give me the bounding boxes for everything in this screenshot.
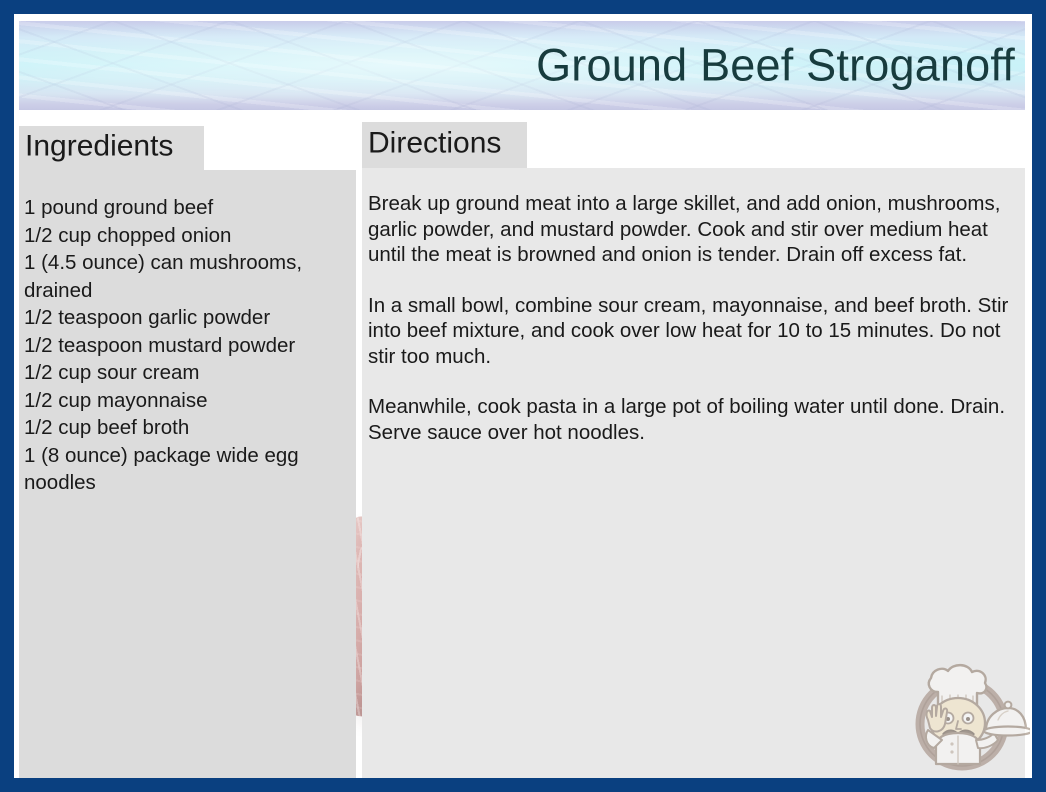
direction-paragraph: Meanwhile, cook pasta in a large pot of … xyxy=(368,394,1011,445)
header-banner: Ground Beef Stroganoff xyxy=(19,21,1025,110)
ingredient-item: 1/2 cup chopped onion xyxy=(24,222,348,250)
direction-paragraph: In a small bowl, combine sour cream, may… xyxy=(368,293,1011,370)
ingredient-item: 1 (4.5 ounce) can mushrooms, drained xyxy=(24,249,348,304)
slide-title: Ground Beef Stroganoff xyxy=(536,41,1015,88)
ingredient-item: 1/2 teaspoon mustard powder xyxy=(24,332,348,360)
ingredient-item: 1/2 cup mayonnaise xyxy=(24,387,348,415)
slide-border-left xyxy=(0,0,14,792)
recipe-slide: Ground Beef Stroganoff Ingredients 1 pou… xyxy=(0,0,1046,792)
directions-heading-label: Directions xyxy=(368,127,501,161)
ingredients-heading-label: Ingredients xyxy=(25,130,173,164)
ingredients-heading-box: Ingredients xyxy=(19,126,204,170)
ingredient-item: 1/2 cup sour cream xyxy=(24,359,348,387)
slide-border-right xyxy=(1032,0,1046,792)
ingredient-item: 1/2 cup beef broth xyxy=(24,414,348,442)
slide-border-bottom xyxy=(0,778,1046,792)
directions-text: Break up ground meat into a large skille… xyxy=(368,191,1011,445)
directions-panel: Break up ground meat into a large skille… xyxy=(362,168,1025,778)
directions-heading-box: Directions xyxy=(362,122,527,168)
direction-paragraph: Break up ground meat into a large skille… xyxy=(368,191,1011,268)
ingredient-item: 1/2 teaspoon garlic powder xyxy=(24,304,348,332)
ingredients-panel: 1 pound ground beef1/2 cup chopped onion… xyxy=(19,170,356,783)
ingredient-item: 1 (8 ounce) package wide egg noodles xyxy=(24,442,348,497)
ingredients-list: 1 pound ground beef1/2 cup chopped onion… xyxy=(24,194,348,497)
ingredient-item: 1 pound ground beef xyxy=(24,194,348,222)
slide-border-top xyxy=(0,0,1046,14)
